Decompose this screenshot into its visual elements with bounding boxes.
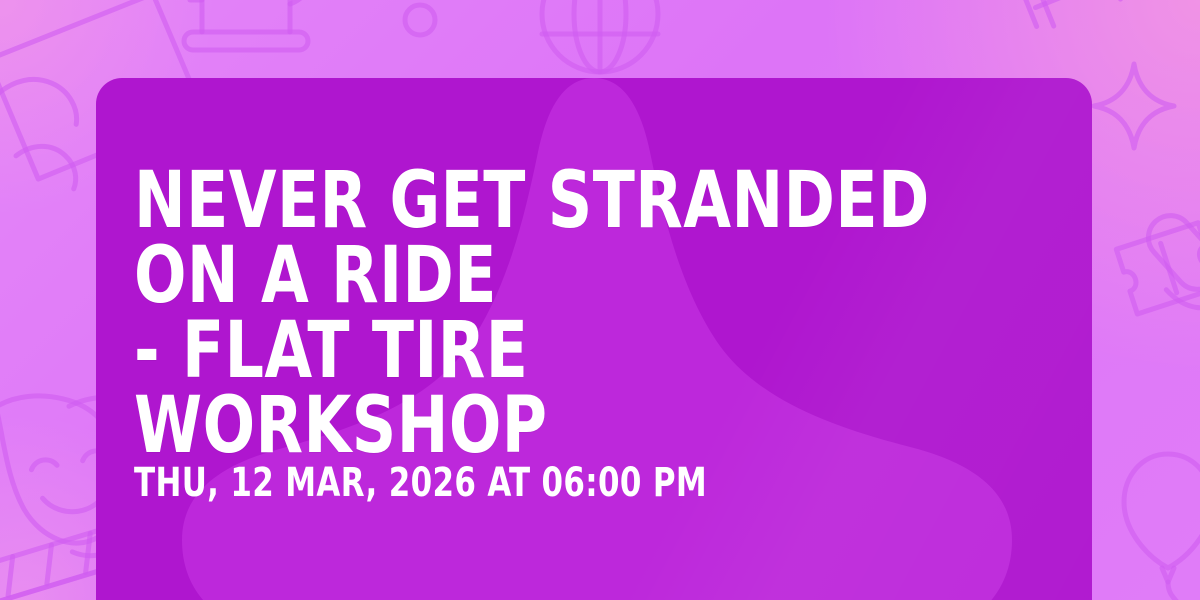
balloon-icon: [1124, 454, 1200, 600]
ticket-icon: [1116, 223, 1200, 314]
microphone-icon: [1127, 196, 1200, 346]
event-title: Never get stranded on a ride - Flat tire…: [134, 164, 956, 464]
circle-icon: [405, 5, 435, 35]
banner-stage: Never get stranded on a ride - Flat tire…: [0, 0, 1200, 600]
globe-icon: [542, 0, 658, 72]
event-card: Never get stranded on a ride - Flat tire…: [96, 78, 1092, 600]
dumbbell-icon: [1021, 0, 1135, 32]
sparkle-star-icon: [1094, 64, 1174, 148]
event-datetime: Thu, 12 Mar, 2026 at 06:00 PM: [134, 462, 707, 504]
card-content: Never get stranded on a ride - Flat tire…: [134, 78, 1068, 600]
trophy-podium-icon: [184, 0, 311, 50]
